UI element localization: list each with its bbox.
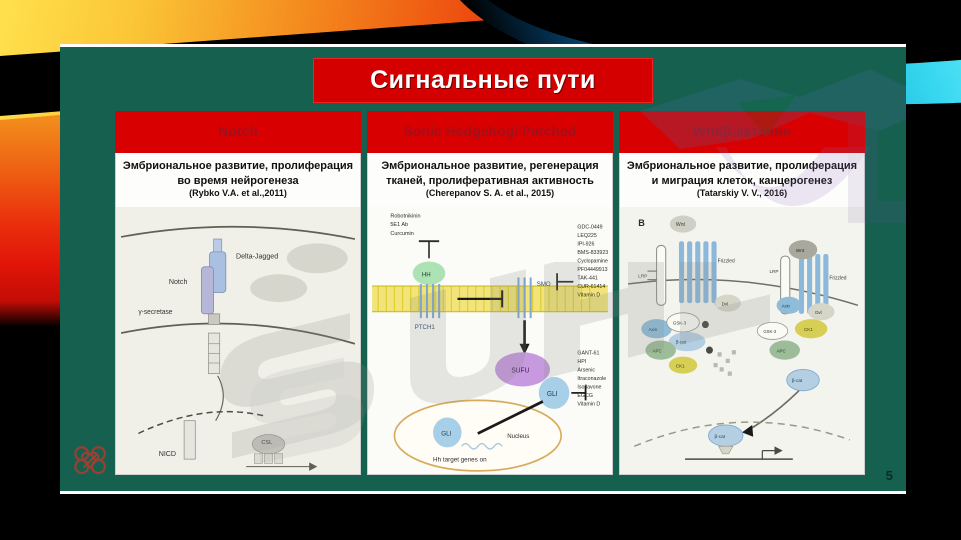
svg-text:HPI: HPI xyxy=(577,359,586,365)
slide-bottom-edge xyxy=(60,491,906,494)
svg-text:Dvl: Dvl xyxy=(722,301,728,306)
svg-text:CK1: CK1 xyxy=(676,363,685,368)
svg-text:GANT-61: GANT-61 xyxy=(577,350,599,356)
svg-text:SUFU: SUFU xyxy=(511,367,529,374)
svg-text:CK1: CK1 xyxy=(804,327,813,332)
notch-pathway-diagram: Delta-Jagged Notch γ-secretase NICD CSL xyxy=(116,207,360,474)
svg-text:APC: APC xyxy=(777,348,787,353)
svg-text:GSK-3: GSK-3 xyxy=(763,329,776,334)
svg-text:Hh target genes on: Hh target genes on xyxy=(433,456,487,463)
svg-text:Delta-Jagged: Delta-Jagged xyxy=(236,251,278,260)
citation-text: (Tatarskiy V. V., 2016) xyxy=(624,188,860,200)
svg-text:TAK-441: TAK-441 xyxy=(577,275,597,281)
pathways-table: Notch Эмбриональное развитие, пролиферац… xyxy=(115,111,865,475)
column-description-hedgehog: Эмбриональное развитие, регенерация ткан… xyxy=(367,153,613,207)
column-description-notch: Эмбриональное развитие, пролиферация во … xyxy=(115,153,361,207)
svg-text:Robotnikinin: Robotnikinin xyxy=(390,213,420,219)
svg-text:EGCG: EGCG xyxy=(577,393,593,399)
citation-text: (Rybko V.A. et al.,2011) xyxy=(120,188,356,200)
svg-text:Curcumin: Curcumin xyxy=(390,231,413,237)
svg-text:Wnt: Wnt xyxy=(796,248,805,254)
svg-text:GDC-0449: GDC-0449 xyxy=(577,224,602,230)
background-bottom-bar xyxy=(0,494,961,540)
citation-text: (Cherepanov S. A. et al., 2015) xyxy=(372,188,608,200)
svg-text:Nucleus: Nucleus xyxy=(507,433,529,440)
slide-title-banner: Сигнальные пути xyxy=(313,58,653,103)
svg-text:Cyclopamine: Cyclopamine xyxy=(577,258,607,264)
svg-text:Axin: Axin xyxy=(648,327,657,332)
svg-text:Vitamin D: Vitamin D xyxy=(577,293,600,299)
svg-text:GLI: GLI xyxy=(441,430,451,437)
wnt-pathway-diagram: B Wnt LRP xyxy=(620,207,864,474)
pathway-column-notch: Notch Эмбриональное развитие, пролиферац… xyxy=(115,111,361,475)
svg-text:γ-secretase: γ-secretase xyxy=(138,309,172,316)
page-number: 5 xyxy=(886,468,893,483)
svg-text:GSK-3: GSK-3 xyxy=(673,320,687,325)
svg-text:Axin: Axin xyxy=(782,303,791,308)
description-text: Эмбриональное развитие, пролиферация и м… xyxy=(624,159,860,188)
svg-text:β-cat: β-cat xyxy=(715,434,726,440)
svg-text:B: B xyxy=(638,218,645,228)
svg-text:Arsenic: Arsenic xyxy=(577,367,595,373)
svg-text:NICD: NICD xyxy=(159,449,176,458)
pathway-column-wnt: Wnt/β-катенин Эмбриональное развитие, пр… xyxy=(619,111,865,475)
svg-text:Vitamin D: Vitamin D xyxy=(577,402,600,408)
svg-text:LEQ225: LEQ225 xyxy=(577,233,596,239)
svg-text:HH: HH xyxy=(422,271,431,278)
svg-text:Wnt: Wnt xyxy=(676,222,686,228)
svg-text:Notch: Notch xyxy=(169,277,188,286)
svg-text:CSL: CSL xyxy=(261,440,272,446)
description-text: Эмбриональное развитие, пролиферация во … xyxy=(120,159,356,188)
svg-text:Itraconazole: Itraconazole xyxy=(577,376,606,382)
svg-text:SMO: SMO xyxy=(537,281,551,288)
svg-text:β-cat: β-cat xyxy=(792,378,803,384)
svg-text:Dvl: Dvl xyxy=(815,310,821,315)
column-description-wnt: Эмбриональное развитие, пролиферация и м… xyxy=(619,153,865,207)
pathway-column-hedgehog: Sonic Hedgehog/ Patched Эмбриональное ра… xyxy=(367,111,613,475)
presentation-slide: Сигнальные пути Notch Эмбриональное разв… xyxy=(60,47,906,491)
svg-text:LRP: LRP xyxy=(769,269,778,275)
svg-text:IPI-926: IPI-926 xyxy=(577,241,594,247)
svg-text:5E1 Ab: 5E1 Ab xyxy=(390,222,408,228)
svg-text:PTCH1: PTCH1 xyxy=(415,324,435,331)
svg-text:β-cat: β-cat xyxy=(676,340,687,345)
column-header-label: Notch xyxy=(218,123,258,141)
figure-wnt: B Wnt LRP xyxy=(619,207,865,475)
description-text: Эмбриональное развитие, регенерация ткан… xyxy=(372,159,608,188)
column-header-hedgehog: Sonic Hedgehog/ Patched xyxy=(367,111,613,153)
column-header-label: Wnt/β-катенин xyxy=(693,123,791,141)
corner-emblem-icon xyxy=(68,439,114,485)
figure-hedgehog: HH PTCH1 SMO xyxy=(367,207,613,475)
column-header-label: Sonic Hedgehog/ Patched xyxy=(404,123,577,141)
page-title: Сигнальные пути xyxy=(370,66,596,95)
slide-stage: Сигнальные пути Notch Эмбриональное разв… xyxy=(0,0,961,540)
svg-text:Frizzled: Frizzled xyxy=(829,275,846,281)
column-header-notch: Notch xyxy=(115,111,361,153)
svg-text:BMS-833923: BMS-833923 xyxy=(577,250,608,256)
svg-text:APC: APC xyxy=(653,348,663,353)
svg-text:Isoflavone: Isoflavone xyxy=(577,384,601,390)
svg-text:PF04449913: PF04449913 xyxy=(577,267,607,273)
svg-text:GLI: GLI xyxy=(547,391,558,398)
svg-text:LRP: LRP xyxy=(638,273,647,279)
svg-text:CUR-61414: CUR-61414 xyxy=(577,284,605,290)
figure-notch: Delta-Jagged Notch γ-secretase NICD CSL xyxy=(115,207,361,475)
svg-text:Frizzled: Frizzled xyxy=(718,258,735,264)
column-header-wnt: Wnt/β-катенин xyxy=(619,111,865,153)
hedgehog-pathway-diagram: HH PTCH1 SMO xyxy=(368,207,612,474)
